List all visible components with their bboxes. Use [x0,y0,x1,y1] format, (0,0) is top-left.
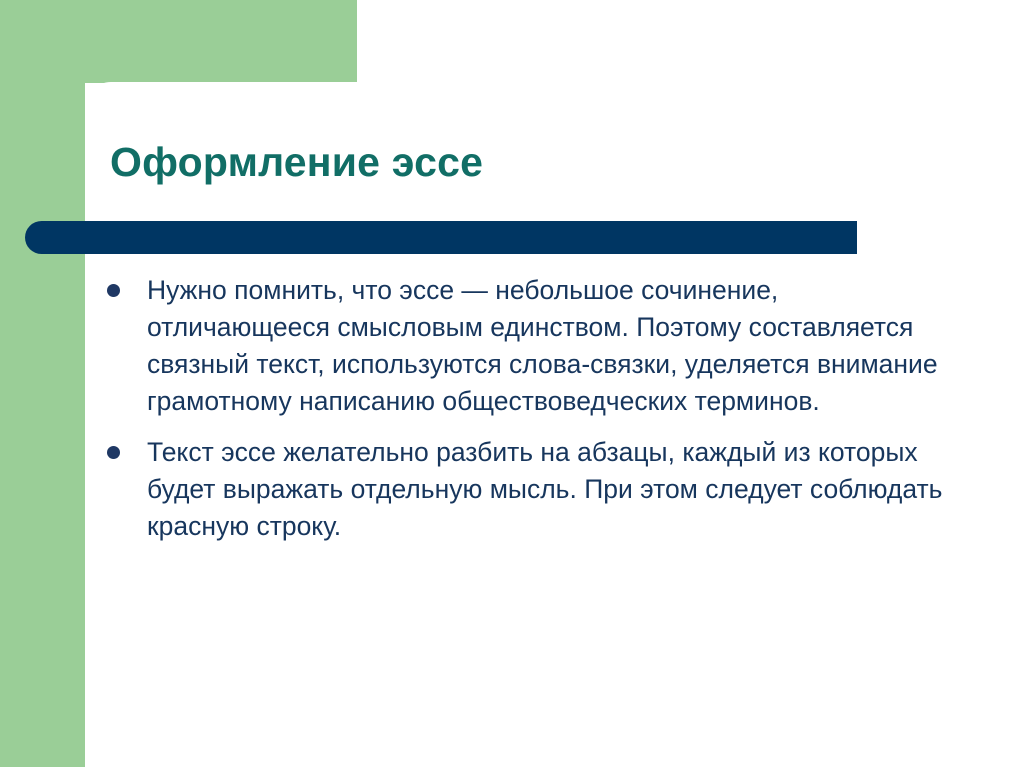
list-item: Текст эссе желательно разбить на абзацы,… [103,434,948,545]
list-item-text: Нужно помнить, что эссе — небольшое сочи… [147,272,948,420]
slide: Оформление эссе Нужно помнить, что эссе … [0,0,1024,767]
bullet-list: Нужно помнить, что эссе — небольшое сочи… [103,272,948,545]
filled-circle-bullet-icon [107,446,120,459]
list-item-text: Текст эссе желательно разбить на абзацы,… [147,434,948,545]
green-header-block [0,0,357,83]
slide-title: Оформление эссе [110,140,940,185]
green-side-panel [0,0,85,767]
title-underline-rule [25,221,857,254]
list-item: Нужно помнить, что эссе — небольшое сочи… [103,272,948,420]
filled-circle-bullet-icon [107,284,120,297]
